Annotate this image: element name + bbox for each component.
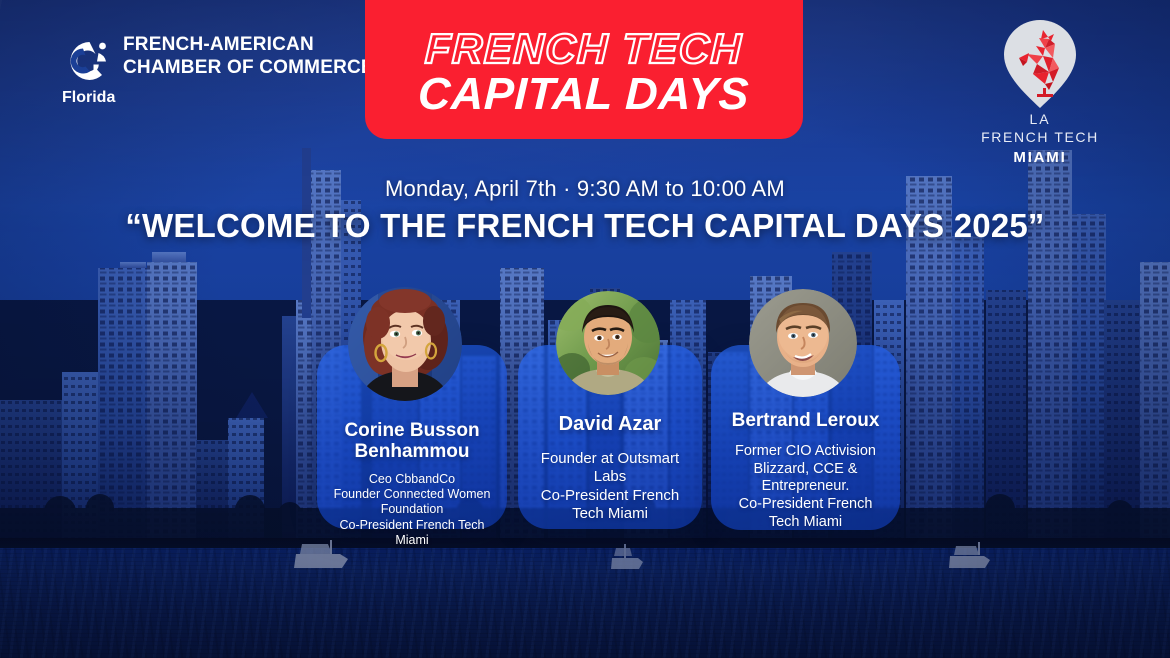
avatar — [348, 287, 462, 401]
speaker-name: Bertrand Leroux — [721, 411, 890, 432]
speaker-role: Founder at OutsmartLabsCo-President Fren… — [528, 450, 692, 523]
speakers-row: Corine BussonBenhammou Ceo CbbandCoFound… — [0, 0, 1170, 658]
portrait-david-azar — [556, 291, 660, 395]
portrait-corine-busson-benhammou — [348, 287, 462, 401]
avatar — [556, 291, 660, 395]
portrait-bertrand-leroux — [749, 289, 857, 397]
avatar — [749, 289, 857, 397]
speaker-role: Former CIO ActivisionBlizzard, CCE &Entr… — [721, 443, 890, 531]
speaker-name: Corine BussonBenhammou — [327, 421, 497, 463]
speaker-name: David Azar — [528, 413, 692, 435]
event-promo-graphic: FRENCH-AMERICAN CHAMBER OF COMMERCE Flor… — [0, 0, 1170, 658]
speaker-role: Ceo CbbandCoFounder Connected WomenFound… — [327, 472, 497, 548]
